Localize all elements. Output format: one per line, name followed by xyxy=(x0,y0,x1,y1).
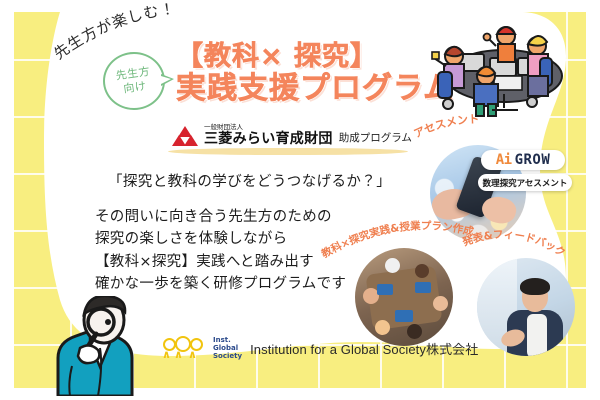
brush-underline xyxy=(168,148,408,155)
body-line: 確かな一歩を築く研修プログラムです xyxy=(95,273,346,295)
caption-feedback-text: 発表&フィードバック xyxy=(460,229,567,259)
body-line: 探究の楽しさを体験しながら xyxy=(95,228,346,250)
caption-lesson-plan-text: 教科×探究実践&授業プラン作成 xyxy=(318,219,475,261)
group-meeting-illustration xyxy=(412,14,590,118)
foundation-credit: 一般財団法人 三菱みらい育成財団 助成プログラム xyxy=(172,124,412,146)
teachers-bubble: 先生方 向け xyxy=(103,52,165,110)
person-magnifier-illustration xyxy=(28,296,152,396)
mitsubishi-diamond-icon xyxy=(172,126,198,146)
foundation-entity-type: 一般財団法人 xyxy=(204,124,333,131)
company-name: Institution for a Global Society株式会社 xyxy=(250,339,478,358)
badge-math-inquiry-text: 数理探究アセスメント xyxy=(483,177,568,189)
bubble-line-2: 向け xyxy=(123,80,148,96)
badge-ai-text: Ai xyxy=(496,152,512,168)
body-copy: その問いに向き合う先生方のための 探究の楽しさを体験しながら 【教科×探究】実践… xyxy=(95,206,346,296)
body-line: その問いに向き合う先生方のための xyxy=(95,206,346,228)
badge-math-inquiry-assessment: 数理探究アセスメント xyxy=(478,174,572,191)
foundation-name: 三菱みらい育成財団 xyxy=(204,132,333,146)
igs-logo-icon: ∧∧∧ xyxy=(163,337,221,359)
badge-grow-text: GROW xyxy=(515,152,551,168)
badge-ai-grow: Ai GROW xyxy=(481,150,565,170)
foundation-program-label: 助成プログラム xyxy=(339,130,412,146)
poster-canvas: 先生方が楽しむ！ 先生方 向け 【教科× 探究】 実践支援プログラム 一般財団法… xyxy=(0,0,600,400)
lead-quote: 「探究と教科の学びをどうつなげるか？」 xyxy=(108,170,391,191)
caption-feedback: 発表&フィードバック xyxy=(462,226,600,280)
body-line: 【教科×探究】実践へと踏み出す xyxy=(95,251,346,273)
footer-logo-row: ∧∧∧ Inst. Global Society Institution for… xyxy=(163,336,478,360)
